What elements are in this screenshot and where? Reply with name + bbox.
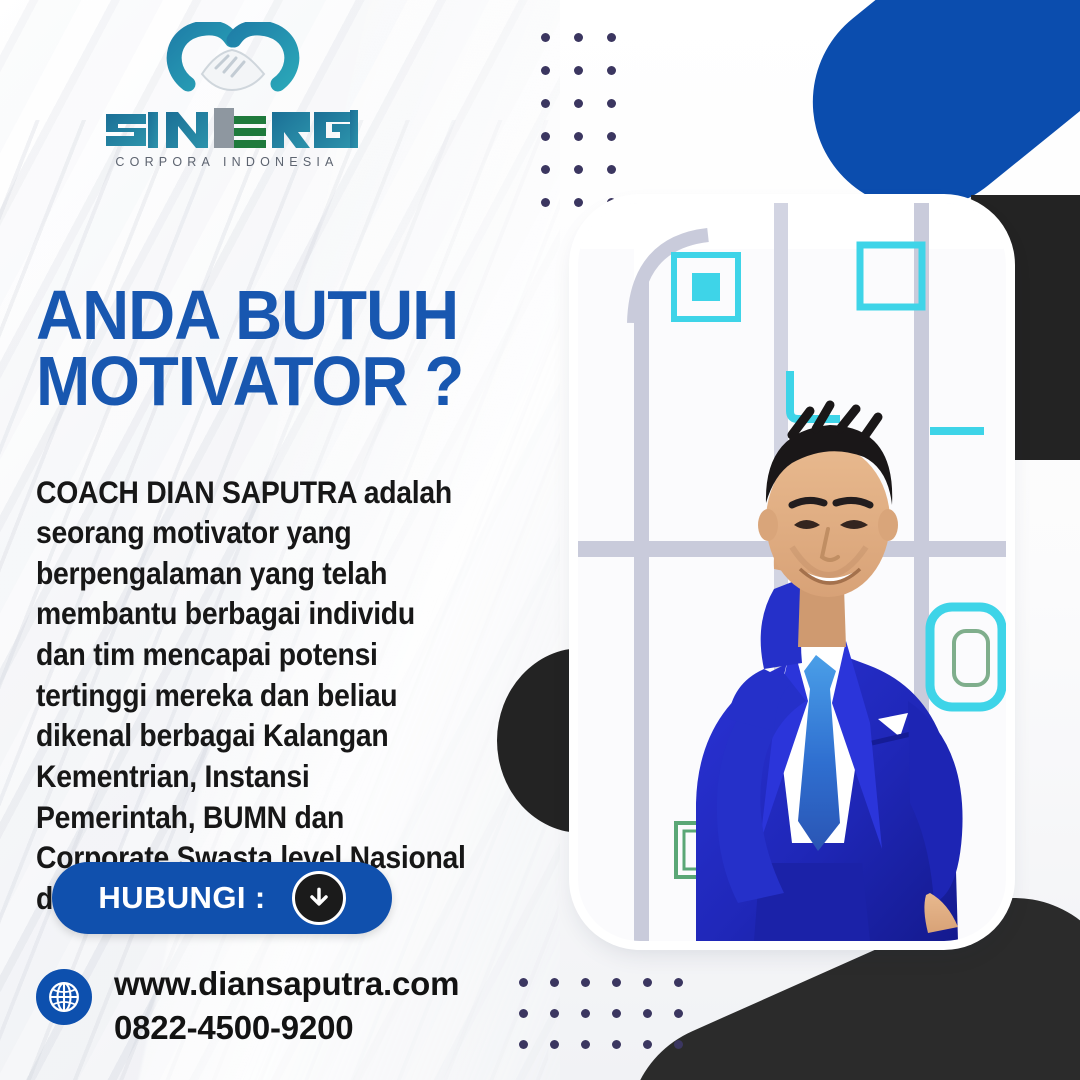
grid-dot — [607, 165, 616, 174]
grid-dot — [574, 33, 583, 42]
grid-dot — [541, 66, 550, 75]
poster-canvas: CORPORA INDONESIA ANDA BUTUH MOTIVATOR ?… — [0, 0, 1080, 1080]
page-title: ANDA BUTUH MOTIVATOR ? — [36, 282, 520, 415]
logo-tagline: CORPORA INDONESIA — [96, 155, 358, 169]
grid-dot — [574, 99, 583, 108]
grid-dot — [550, 978, 559, 987]
hubungi-button-label: HUBUNGI : — [98, 880, 265, 916]
globe-icon — [36, 969, 92, 1025]
grid-dot — [519, 1040, 528, 1049]
handshake-building-logo-icon — [158, 22, 308, 114]
grid-dot — [541, 33, 550, 42]
grid-dot — [519, 1009, 528, 1018]
grid-dot — [550, 1009, 559, 1018]
grid-dot — [581, 978, 590, 987]
body-paragraph: COACH DIAN SAPUTRA adalah seorang motiva… — [36, 472, 468, 919]
grid-dot — [581, 1009, 590, 1018]
portrait-photo-card — [578, 203, 1006, 941]
grid-dot — [643, 1040, 652, 1049]
dot-grid-bottom — [519, 978, 705, 1071]
grid-dot — [674, 978, 683, 987]
headline-line-2: MOTIVATOR ? — [36, 348, 520, 415]
arrow-down-circle-icon — [292, 871, 346, 925]
contact-block: www.diansaputra.com 0822-4500-9200 — [36, 965, 459, 1047]
grid-dot — [612, 1040, 621, 1049]
dot-grid-top — [541, 33, 640, 231]
grid-dot — [550, 1040, 559, 1049]
phone-text[interactable]: 0822-4500-9200 — [114, 1009, 459, 1047]
grid-dot — [674, 1040, 683, 1049]
grid-dot — [541, 165, 550, 174]
grid-dot — [612, 978, 621, 987]
logo-wordmark — [96, 104, 358, 152]
grid-dot — [519, 978, 528, 987]
grid-dot — [607, 33, 616, 42]
grid-dot — [541, 198, 550, 207]
website-text[interactable]: www.diansaputra.com — [114, 965, 459, 1003]
grid-dot — [574, 165, 583, 174]
grid-dot — [574, 132, 583, 141]
grid-dot — [574, 198, 583, 207]
grid-dot — [674, 1009, 683, 1018]
grid-dot — [541, 99, 550, 108]
grid-dot — [607, 132, 616, 141]
brand-logo: CORPORA INDONESIA — [96, 22, 358, 174]
grid-dot — [581, 1040, 590, 1049]
grid-dot — [607, 66, 616, 75]
grid-dot — [541, 132, 550, 141]
grid-dot — [612, 1009, 621, 1018]
grid-dot — [643, 1009, 652, 1018]
grid-dot — [643, 978, 652, 987]
grid-dot — [574, 66, 583, 75]
grid-dot — [607, 99, 616, 108]
grid-dot — [607, 198, 616, 207]
hubungi-button[interactable]: HUBUNGI : — [52, 862, 392, 934]
headline-line-1: ANDA BUTUH — [36, 282, 520, 349]
portrait-image — [578, 203, 1006, 941]
